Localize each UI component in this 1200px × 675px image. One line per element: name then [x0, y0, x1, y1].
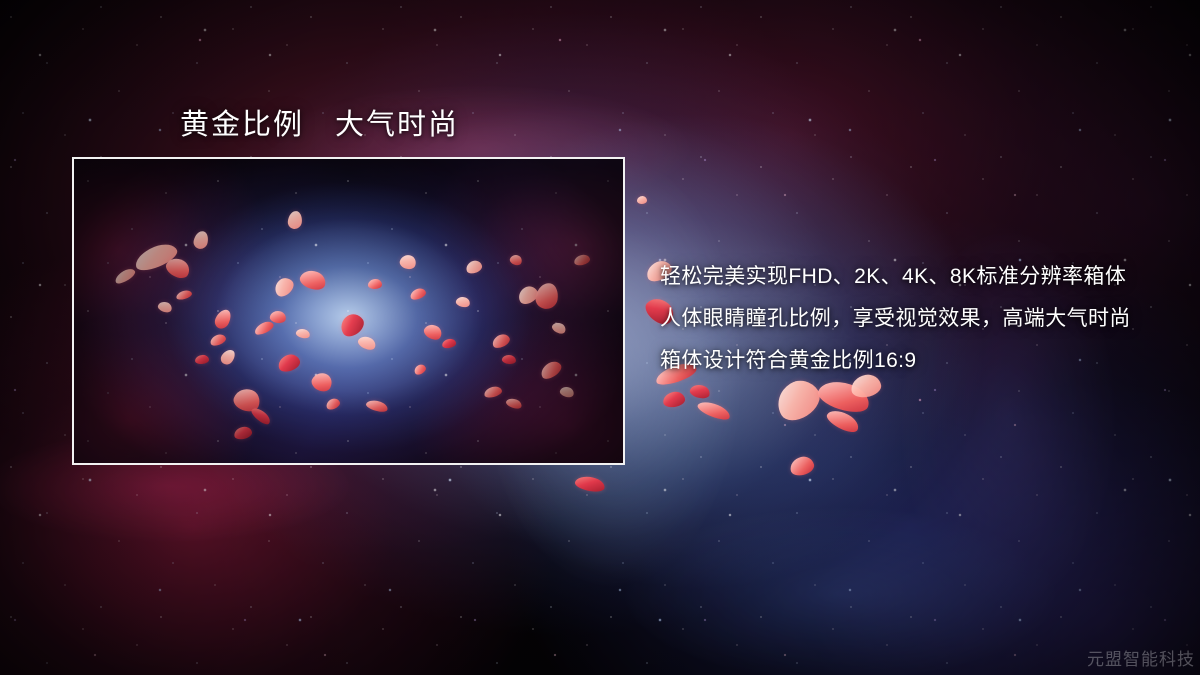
framed-image-petal — [233, 425, 253, 440]
framed-image-petal — [336, 310, 367, 340]
framed-image-petal — [325, 397, 342, 412]
background-petal — [689, 383, 712, 401]
framed-image-petal — [209, 333, 227, 348]
framed-image-petal — [455, 295, 471, 308]
framed-image-petal — [298, 267, 329, 293]
framed-image-petal — [509, 253, 524, 267]
body-line-3: 箱体设计符合黄金比例16:9 — [660, 340, 1180, 382]
background-petal — [788, 454, 816, 477]
framed-image-petal — [231, 385, 263, 415]
framed-image-petal — [515, 283, 540, 307]
body-line-2: 人体眼睛瞳孔比例，享受视觉效果，高端大气时尚 — [660, 298, 1180, 340]
background-petal — [574, 474, 606, 494]
slide-canvas: 黄金比例 大气时尚 轻松完美实现FHD、2K、4K、8K标准分辨率箱体 人体眼睛… — [0, 0, 1200, 675]
framed-image-petal — [413, 363, 428, 377]
framed-image-petal — [534, 281, 560, 310]
background-petal — [696, 398, 732, 423]
watermark: 元盟智能科技 — [1087, 645, 1195, 670]
framed-image-petal — [398, 253, 418, 271]
framed-image-vignette — [74, 159, 623, 463]
framed-image-petal — [559, 385, 575, 399]
framed-image-petal — [356, 334, 377, 352]
framed-image-petal — [501, 354, 516, 365]
framed-image-petal — [368, 279, 382, 289]
framed-image-petal — [195, 354, 210, 364]
framed-image-petal — [271, 274, 297, 299]
framed-image-petal — [422, 321, 445, 342]
framed-image-petal — [253, 319, 275, 337]
framed-image-petal — [483, 385, 503, 399]
framed-image-petal — [113, 266, 137, 286]
framed-image-petal — [573, 253, 591, 266]
framed-image-petal — [441, 338, 456, 349]
slide-title: 黄金比例 大气时尚 — [180, 101, 459, 143]
framed-image-petal — [490, 332, 511, 350]
framed-image-petal — [409, 287, 427, 302]
framed-product-image — [72, 157, 625, 465]
framed-image-petals — [74, 159, 623, 463]
framed-image-petal — [287, 210, 303, 229]
framed-image-petal — [192, 230, 209, 251]
body-text-block: 轻松完美实现FHD、2K、4K、8K标准分辨率箱体 人体眼睛瞳孔比例，享受视觉效… — [660, 256, 1180, 382]
framed-image-petal — [465, 259, 484, 275]
background-petal — [637, 196, 647, 204]
framed-image-petal — [550, 320, 567, 335]
background-petal — [662, 391, 686, 409]
framed-image-petal — [212, 307, 233, 331]
background-petal — [824, 406, 862, 436]
framed-image-petal — [365, 398, 389, 414]
framed-image-petal — [163, 254, 193, 282]
framed-image-starfield-icon — [74, 159, 623, 463]
framed-image-petal — [295, 327, 311, 339]
framed-image-petal — [505, 397, 523, 411]
framed-image-petal — [249, 405, 272, 427]
body-line-1: 轻松完美实现FHD、2K、4K、8K标准分辨率箱体 — [660, 256, 1180, 298]
framed-image-petal — [276, 352, 302, 374]
framed-image-nebula — [74, 159, 623, 463]
framed-image-petal — [309, 369, 335, 394]
framed-image-petal — [269, 310, 287, 325]
framed-image-petal — [218, 347, 237, 367]
framed-image-petal — [132, 239, 180, 274]
framed-image-petal — [175, 289, 193, 301]
framed-image-petal — [538, 358, 564, 382]
framed-image-petal — [157, 300, 174, 314]
